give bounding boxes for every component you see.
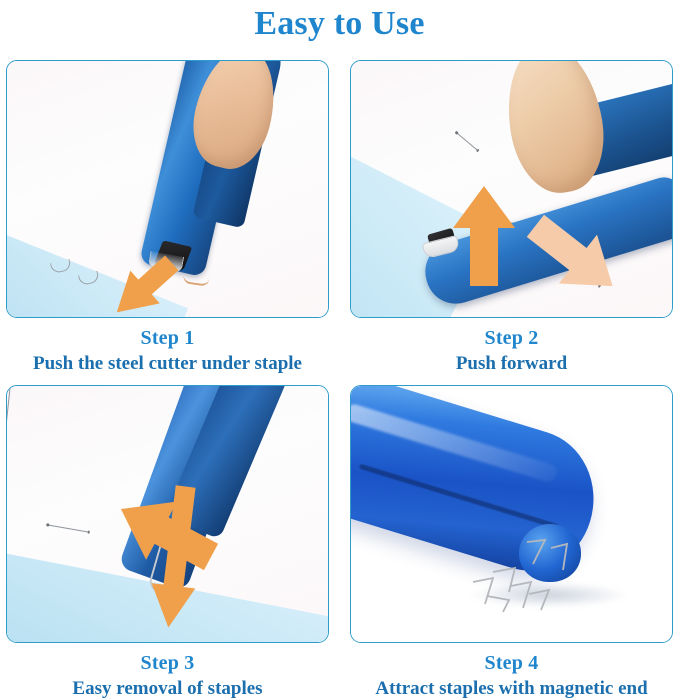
step-card-1: Step 1 Push the steel cutter under stapl… <box>6 60 329 376</box>
page-title: Easy to Use <box>0 2 679 46</box>
push-forward-ghost-arrow <box>519 201 629 311</box>
step-description: Easy removal of staples <box>6 676 329 699</box>
step-card-2: Step 2 Push forward <box>350 60 673 376</box>
step-description: Push forward <box>350 351 673 376</box>
pull-down-arrow <box>147 484 207 630</box>
step-card-3: Step 3 Easy removal of staples <box>6 385 329 699</box>
step-title: Step 2 <box>350 325 673 351</box>
step-1-scene <box>7 61 328 317</box>
step-2-caption: Step 2 Push forward <box>350 318 673 376</box>
step-description: Push the steel cutter under staple <box>6 351 329 376</box>
step-2-image-panel <box>350 60 673 318</box>
step-3-image-panel <box>6 385 329 643</box>
step-description: Attract staples with magnetic end <box>350 676 673 699</box>
steps-grid: Step 1 Push the steel cutter under stapl… <box>0 60 679 699</box>
step-card-4: Step 4 Attract staples with magnetic end <box>350 385 673 699</box>
attracted-staples-cluster <box>463 538 593 618</box>
step-title: Step 4 <box>350 650 673 676</box>
step-4-scene <box>351 386 672 642</box>
step-4-image-panel <box>350 385 673 643</box>
step-2-scene <box>351 61 672 317</box>
step-3-scene <box>7 386 328 642</box>
step-1-image-panel <box>6 60 329 318</box>
easy-to-use-instruction-graphic: Easy to Use <box>0 0 679 699</box>
step-4-caption: Step 4 Attract staples with magnetic end <box>350 643 673 699</box>
step-3-caption: Step 3 Easy removal of staples <box>6 643 329 699</box>
push-up-arrow <box>449 186 519 286</box>
push-down-left-arrow <box>105 247 185 317</box>
step-title: Step 1 <box>6 325 329 351</box>
step-1-caption: Step 1 Push the steel cutter under stapl… <box>6 318 329 376</box>
step-title: Step 3 <box>6 650 329 676</box>
